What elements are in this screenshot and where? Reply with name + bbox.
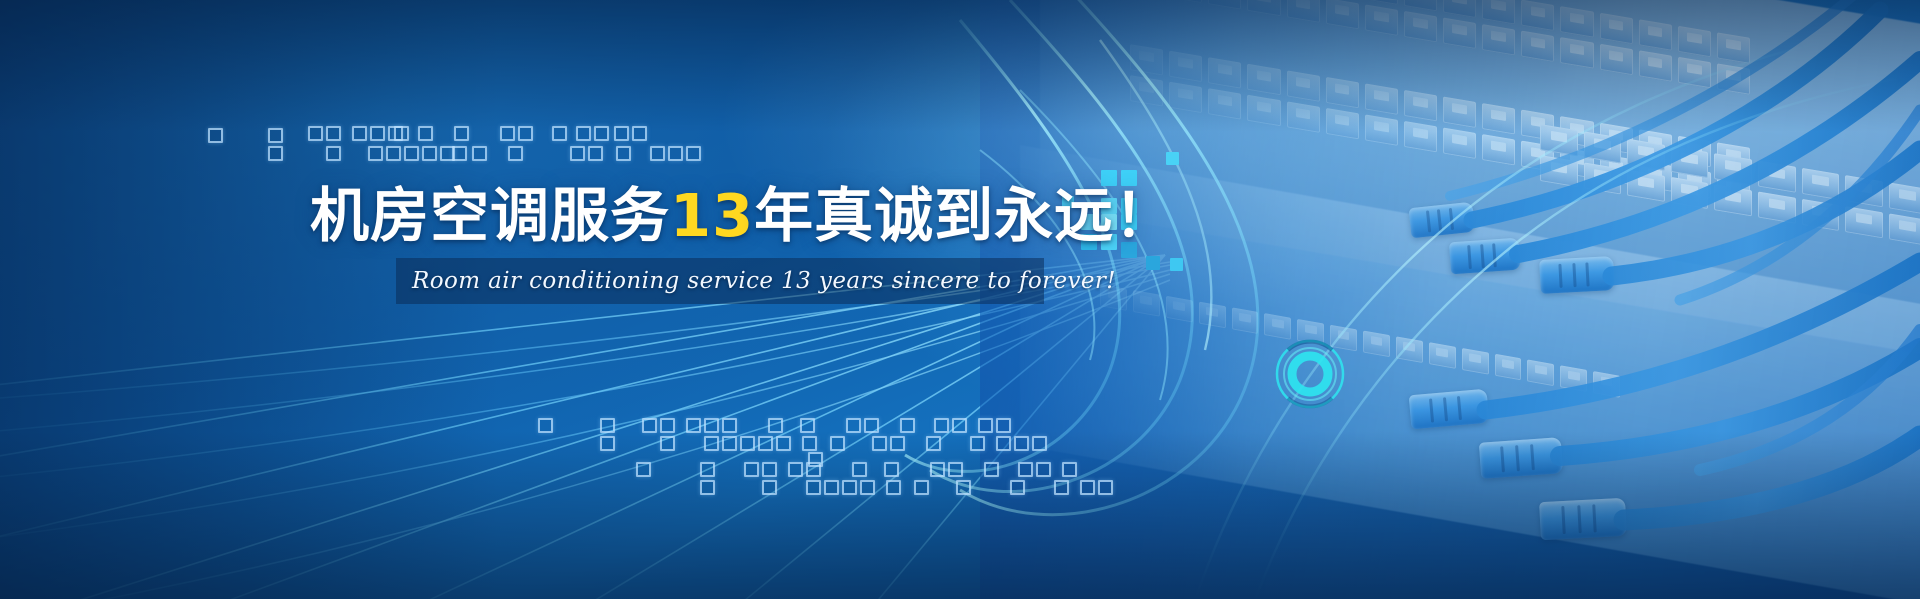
- headline-prefix: 机房空调服务: [310, 181, 670, 250]
- subtitle: Room air conditioning service 13 years s…: [412, 258, 1032, 304]
- headline-accent-number: 13: [670, 181, 754, 250]
- headline-suffix: 年真诚到永远！: [754, 181, 1174, 250]
- headline: 机房空调服务13年真诚到永远！: [310, 168, 1174, 253]
- promo-banner: 机房空调服务13年真诚到永远！ Room air conditioning se…: [0, 0, 1920, 599]
